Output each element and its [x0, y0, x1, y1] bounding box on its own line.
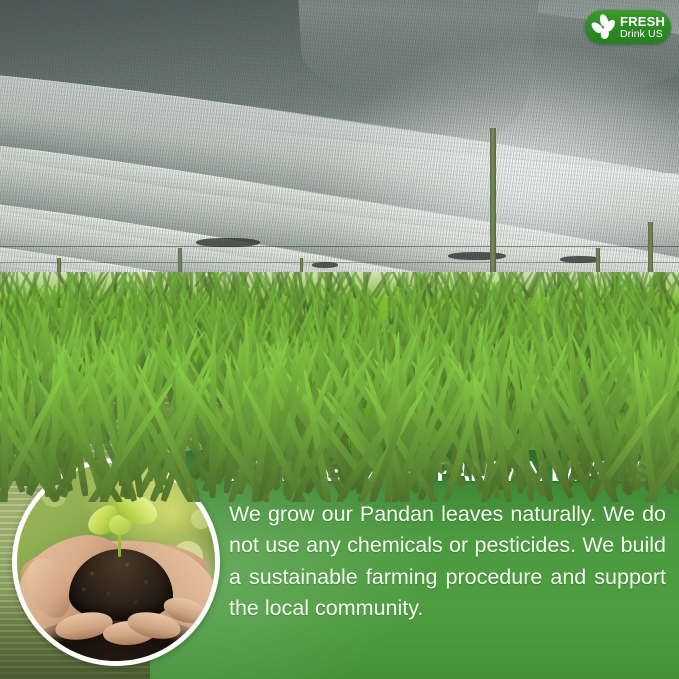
canopy-fitting — [312, 262, 338, 268]
leaf-petal — [600, 27, 610, 40]
mesh-weave-texture — [0, 0, 679, 300]
canopy-fitting — [448, 252, 506, 260]
brand-logo[interactable]: FRESH Drink US — [585, 10, 671, 44]
pandan-leaf-field — [0, 272, 679, 502]
pandan-leaf-blade — [1, 335, 9, 502]
logo-line-drink-us: Drink US — [620, 29, 665, 40]
four-leaf-cluster-icon — [591, 14, 617, 40]
poster: HOW WE GROW PANDAN LEAVES We grow our Pa… — [0, 0, 679, 679]
canopy-fitting — [560, 256, 600, 263]
canopy-fitting — [196, 238, 260, 247]
bokeh-light — [191, 509, 211, 529]
support-wire — [0, 246, 679, 247]
banner-body-text: We grow our Pandan leaves naturally. We … — [229, 499, 666, 625]
logo-line-fresh: FRESH — [620, 15, 665, 28]
shade-cloth-canopy — [0, 0, 679, 300]
